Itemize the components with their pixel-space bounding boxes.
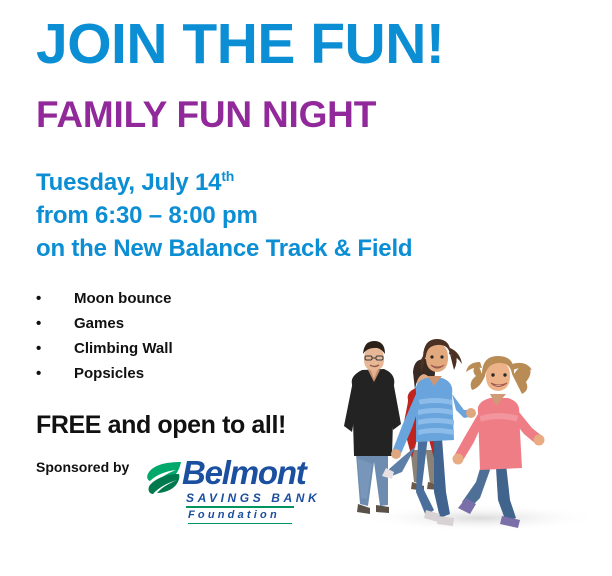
family-photo — [330, 286, 612, 536]
list-item: • Games — [36, 311, 173, 336]
event-location: on the New Balance Track & Field — [36, 232, 412, 265]
list-item: • Climbing Wall — [36, 336, 173, 361]
flyer-canvas: JOIN THE FUN! FAMILY FUN NIGHT Tuesday, … — [0, 0, 612, 576]
bullet-icon: • — [36, 361, 74, 386]
list-item-label: Games — [74, 311, 124, 336]
activities-list: • Moon bounce • Games • Climbing Wall • … — [36, 286, 173, 386]
belmont-savings-bank-foundation-logo: Belmont SAVINGS BANK Foundation — [146, 455, 296, 523]
leaf-icon — [146, 461, 182, 495]
list-item: • Moon bounce — [36, 286, 173, 311]
list-item-label: Climbing Wall — [74, 336, 173, 361]
page-subtitle: FAMILY FUN NIGHT — [36, 96, 376, 133]
list-item-label: Moon bounce — [74, 286, 172, 311]
free-callout: FREE and open to all! — [36, 411, 286, 440]
logo-divider-top — [186, 506, 294, 508]
event-details: Tuesday, July 14th from 6:30 – 8:00 pm o… — [36, 166, 412, 265]
bullet-icon: • — [36, 336, 74, 361]
event-date-ordinal: th — [221, 168, 234, 184]
sponsored-by-label: Sponsored by — [36, 459, 129, 475]
logo-divider-bottom — [188, 523, 292, 524]
event-date: Tuesday, July 14th — [36, 166, 412, 199]
list-item-label: Popsicles — [74, 361, 144, 386]
page-title: JOIN THE FUN! — [36, 16, 444, 73]
logo-savings-bank: SAVINGS BANK — [186, 491, 320, 505]
logo-wordmark: Belmont — [182, 455, 306, 491]
list-item: • Popsicles — [36, 361, 173, 386]
event-date-text: Tuesday, July 14 — [36, 169, 221, 196]
bullet-icon: • — [36, 286, 74, 311]
logo-foundation: Foundation — [188, 509, 280, 522]
event-time: from 6:30 – 8:00 pm — [36, 199, 412, 232]
bullet-icon: • — [36, 311, 74, 336]
